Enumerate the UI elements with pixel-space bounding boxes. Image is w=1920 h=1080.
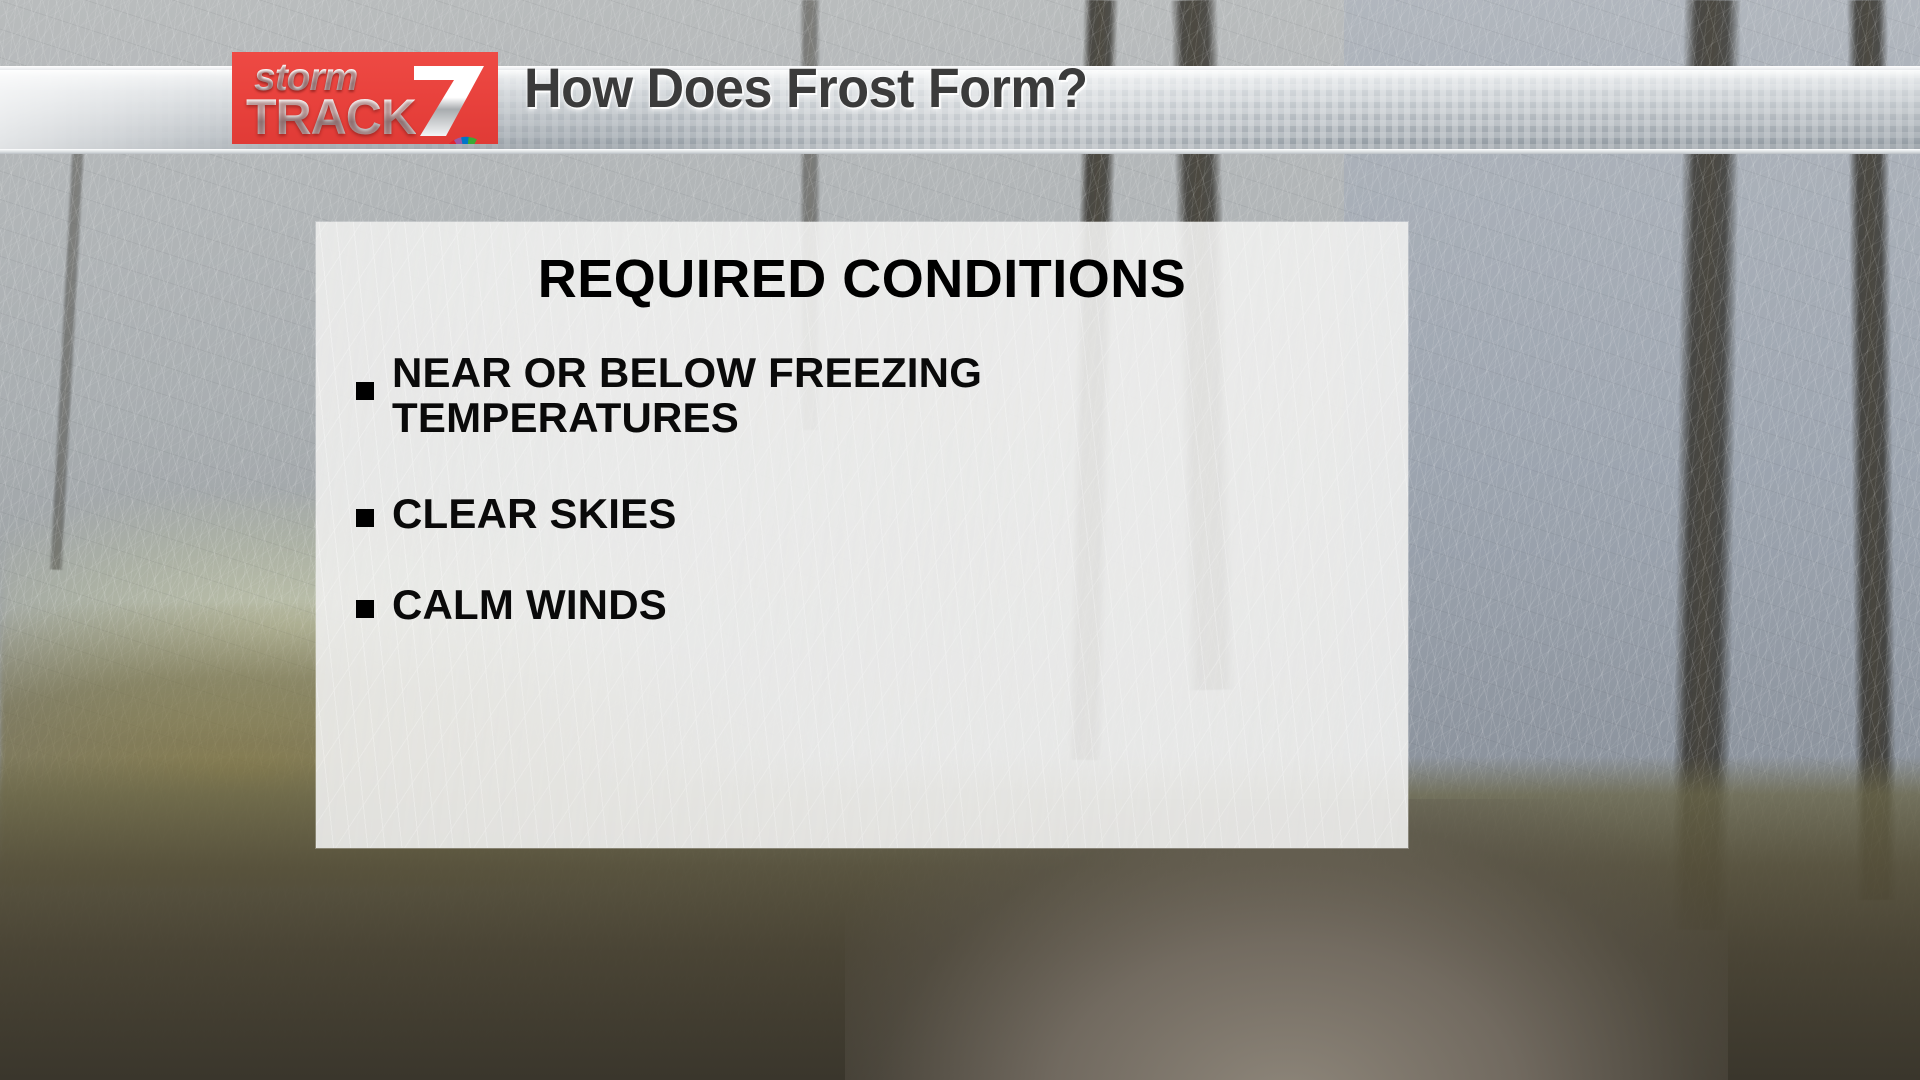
- bullet-line-1: CLEAR SKIES: [392, 490, 677, 537]
- list-item: CLEAR SKIES: [356, 491, 1378, 536]
- banner-title: How Does Frost Form?: [524, 55, 1088, 120]
- bullet-line-2: TEMPERATURES: [392, 395, 982, 440]
- list-item: CALM WINDS: [356, 582, 1378, 627]
- square-bullet-icon: [356, 600, 374, 618]
- panel-heading: REQUIRED CONDITIONS: [316, 248, 1408, 310]
- bullet-line-1: NEAR OR BELOW FREEZING: [392, 349, 982, 396]
- square-bullet-icon: [356, 382, 374, 400]
- storm-track-7-logo: storm TRACK: [232, 52, 498, 144]
- bullet-text: CLEAR SKIES: [392, 491, 677, 536]
- logo-seven-numeral: [408, 64, 488, 138]
- square-bullet-icon: [356, 509, 374, 527]
- list-item: NEAR OR BELOW FREEZING TEMPERATURES: [356, 350, 1378, 441]
- weather-graphic-slide: storm TRACK How: [0, 0, 1920, 1080]
- banner-bottom-rule: [0, 149, 1920, 154]
- bullet-line-1: CALM WINDS: [392, 581, 667, 628]
- logo-track-text: TRACK: [246, 88, 416, 144]
- bullet-text: CALM WINDS: [392, 582, 667, 627]
- nbc-peacock-icon: [438, 130, 494, 144]
- content-panel: REQUIRED CONDITIONS NEAR OR BELOW FREEZI…: [316, 222, 1408, 848]
- bullet-text: NEAR OR BELOW FREEZING TEMPERATURES: [392, 350, 982, 441]
- bullet-list: NEAR OR BELOW FREEZING TEMPERATURES CLEA…: [356, 350, 1378, 673]
